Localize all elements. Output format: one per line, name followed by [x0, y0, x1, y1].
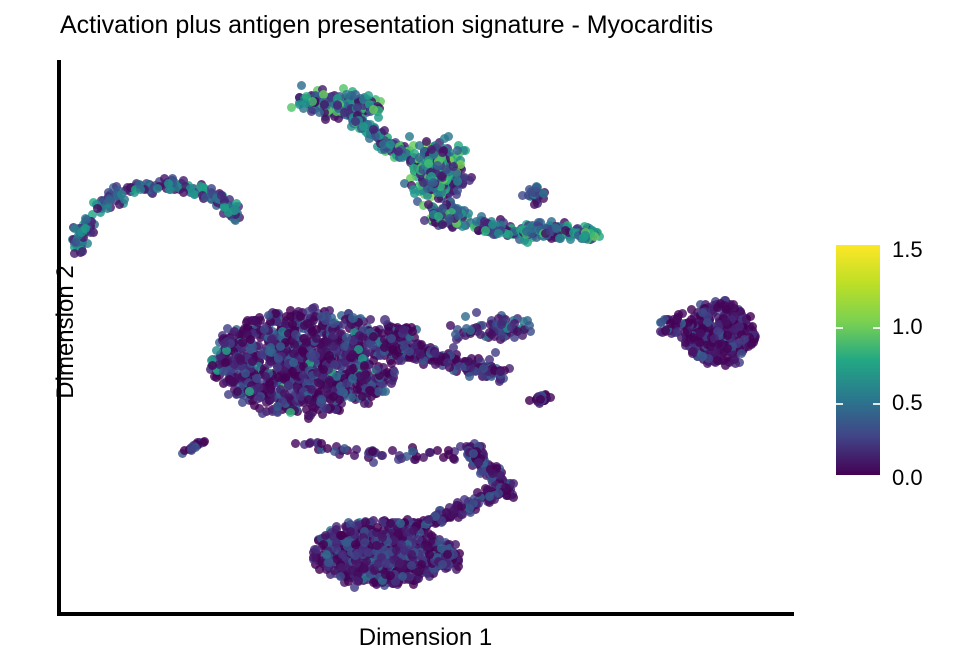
- scatter-point: [427, 531, 436, 540]
- scatter-point: [238, 398, 247, 407]
- colorbar-tick-0.5-left: [836, 403, 843, 405]
- colorbar-gradient: [836, 245, 880, 475]
- scatter-point: [273, 402, 282, 411]
- scatter-point: [368, 447, 377, 456]
- scatter-point: [305, 439, 314, 448]
- scatter-point: [410, 164, 419, 173]
- scatter-point: [485, 355, 494, 364]
- scatter-point: [358, 333, 367, 342]
- scatter-point: [451, 330, 460, 339]
- scatter-point: [494, 489, 503, 498]
- scatter-point: [282, 312, 291, 321]
- scatter-point: [284, 381, 293, 390]
- colorbar-tick-0.5-right: [873, 403, 880, 405]
- scatter-point: [233, 387, 242, 396]
- scatter-point: [230, 327, 239, 336]
- scatter-point: [352, 576, 361, 585]
- x-axis-line: [57, 612, 794, 616]
- scatter-point: [340, 108, 349, 117]
- scatter-point: [325, 351, 334, 360]
- scatter-point: [409, 185, 418, 194]
- scatter-point: [351, 90, 360, 99]
- scatter-point: [381, 559, 390, 568]
- scatter-point: [348, 313, 358, 323]
- scatter-point: [689, 347, 698, 356]
- scatter-point: [261, 372, 270, 381]
- scatter-point: [224, 390, 233, 399]
- scatter-point: [217, 191, 226, 200]
- scatter-point: [340, 342, 349, 351]
- scatter-point: [291, 439, 300, 448]
- scatter-point: [360, 538, 369, 547]
- scatter-point: [464, 357, 473, 366]
- scatter-point: [747, 340, 756, 349]
- scatter-point: [306, 411, 315, 420]
- scatter-point: [179, 188, 188, 197]
- scatter-point: [518, 331, 527, 340]
- scatter-point: [444, 132, 453, 141]
- scatter-point: [425, 550, 434, 559]
- scatter-point: [395, 559, 404, 568]
- scatter-point: [405, 132, 414, 141]
- scatter-point: [454, 211, 463, 220]
- scatter-point: [673, 314, 682, 323]
- colorbar-label-2: 0.5: [892, 390, 923, 416]
- scatter-point: [525, 321, 534, 330]
- scatter-point: [442, 508, 451, 517]
- scatter-point: [473, 488, 482, 497]
- page-title: Activation plus antigen presentation sig…: [60, 8, 713, 42]
- scatter-point: [746, 312, 755, 321]
- scatter-point: [117, 190, 126, 199]
- scatter-point: [179, 176, 188, 185]
- scatter-point: [433, 161, 442, 170]
- scatter-point: [380, 126, 389, 135]
- scatter-point: [333, 101, 342, 110]
- scatter-point: [336, 531, 345, 540]
- scatter-point: [657, 318, 666, 327]
- scatter-point: [201, 193, 210, 202]
- scatter-point: [469, 499, 478, 508]
- scatter-point: [380, 315, 390, 325]
- scatter-point: [453, 146, 462, 155]
- scatter-point: [346, 527, 355, 536]
- figure-root: Activation plus antigen presentation sig…: [0, 0, 960, 672]
- scatter-point: [539, 189, 548, 198]
- scatter-point: [409, 526, 418, 535]
- scatter-point: [472, 308, 481, 317]
- scatter-point: [103, 204, 112, 213]
- scatter-point: [187, 443, 196, 452]
- scatter-point: [480, 217, 489, 226]
- scatter-point: [93, 204, 102, 213]
- scatter-point: [373, 523, 382, 532]
- scatter-point: [420, 216, 429, 225]
- colorbar-label-1: 1.0: [892, 314, 923, 340]
- scatter-point: [368, 341, 377, 350]
- scatter-point: [414, 574, 423, 583]
- scatter-point: [449, 454, 458, 463]
- scatter-points-layer: [61, 60, 794, 612]
- scatter-point: [260, 325, 269, 334]
- scatter-point: [236, 356, 245, 365]
- colorbar-tick-1.0-left: [836, 327, 843, 329]
- scatter-point: [731, 324, 740, 333]
- scatter-point: [348, 350, 357, 359]
- scatter-point: [527, 224, 536, 233]
- scatter-point: [556, 234, 565, 243]
- scatter-point: [716, 299, 725, 308]
- scatter-point: [321, 115, 330, 124]
- scatter-point: [443, 550, 452, 559]
- scatter-point: [427, 145, 436, 154]
- scatter-point: [387, 334, 396, 343]
- scatter-point: [424, 200, 433, 209]
- scatter-point: [219, 367, 228, 376]
- scatter-point: [390, 368, 399, 377]
- scatter-point: [220, 339, 229, 348]
- scatter-point: [78, 247, 87, 256]
- scatter-point: [71, 238, 80, 247]
- scatter-point: [530, 200, 539, 209]
- scatter-point: [254, 394, 263, 403]
- scatter-point: [353, 549, 362, 558]
- scatter-point: [438, 204, 447, 213]
- scatter-point: [369, 332, 378, 341]
- scatter-point: [165, 185, 174, 194]
- scatter-point: [386, 140, 395, 149]
- scatter-point: [286, 408, 295, 417]
- colorbar-label-min: 0.0: [892, 465, 923, 491]
- scatter-point: [324, 558, 333, 567]
- scatter-point: [296, 312, 305, 321]
- scatter-point: [266, 385, 275, 394]
- scatter-point: [321, 531, 330, 540]
- scatter-point: [274, 373, 283, 382]
- scatter-point: [443, 358, 452, 367]
- scatter-point: [332, 539, 341, 548]
- scatter-point: [424, 515, 433, 524]
- scatter-point: [273, 363, 282, 372]
- scatter-point: [723, 331, 732, 340]
- scatter-point: [340, 444, 349, 453]
- scatter-point: [301, 99, 310, 108]
- scatter-point: [289, 349, 298, 358]
- scatter-point: [365, 386, 374, 395]
- scatter-point: [350, 451, 359, 460]
- scatter-point: [360, 564, 369, 573]
- scatter-point: [525, 185, 534, 194]
- scatter-point: [310, 303, 319, 312]
- scatter-point: [315, 108, 324, 117]
- colorbar: 1.5 1.0 0.5 0.0: [836, 245, 960, 485]
- scatter-point: [449, 343, 458, 352]
- scatter-point: [317, 312, 326, 321]
- scatter-point: [264, 311, 273, 320]
- scatter-point: [536, 395, 545, 404]
- scatter-point: [498, 317, 507, 326]
- scatter-point: [414, 535, 423, 544]
- scatter-point: [297, 81, 306, 90]
- colorbar-label-max: 1.5: [892, 237, 923, 263]
- scatter-point: [153, 184, 162, 193]
- scatter-point: [395, 451, 404, 460]
- scatter-point: [455, 362, 464, 371]
- scatter-point: [461, 312, 470, 321]
- scatter-point: [453, 186, 462, 195]
- scatter-point: [451, 540, 460, 549]
- scatter-point: [289, 358, 298, 367]
- x-axis-label: Dimension 1: [57, 624, 794, 652]
- scatter-point: [366, 315, 375, 324]
- scatter-point: [246, 335, 255, 344]
- scatter-point: [348, 374, 357, 383]
- scatter-point: [81, 224, 90, 233]
- scatter-point: [469, 449, 478, 458]
- scatter-point: [221, 358, 230, 367]
- scatter-point: [438, 220, 447, 229]
- scatter-point: [496, 367, 505, 376]
- scatter-point: [748, 322, 757, 331]
- scatter-point: [721, 317, 730, 326]
- scatter-plot-panel: [61, 60, 794, 612]
- scatter-point: [439, 453, 448, 462]
- scatter-point: [408, 327, 417, 336]
- scatter-point: [494, 229, 503, 238]
- colorbar-tick-1.0-right: [873, 327, 880, 329]
- scatter-point: [258, 409, 267, 418]
- scatter-point: [249, 316, 258, 325]
- scatter-point: [387, 379, 396, 388]
- scatter-point: [353, 385, 362, 394]
